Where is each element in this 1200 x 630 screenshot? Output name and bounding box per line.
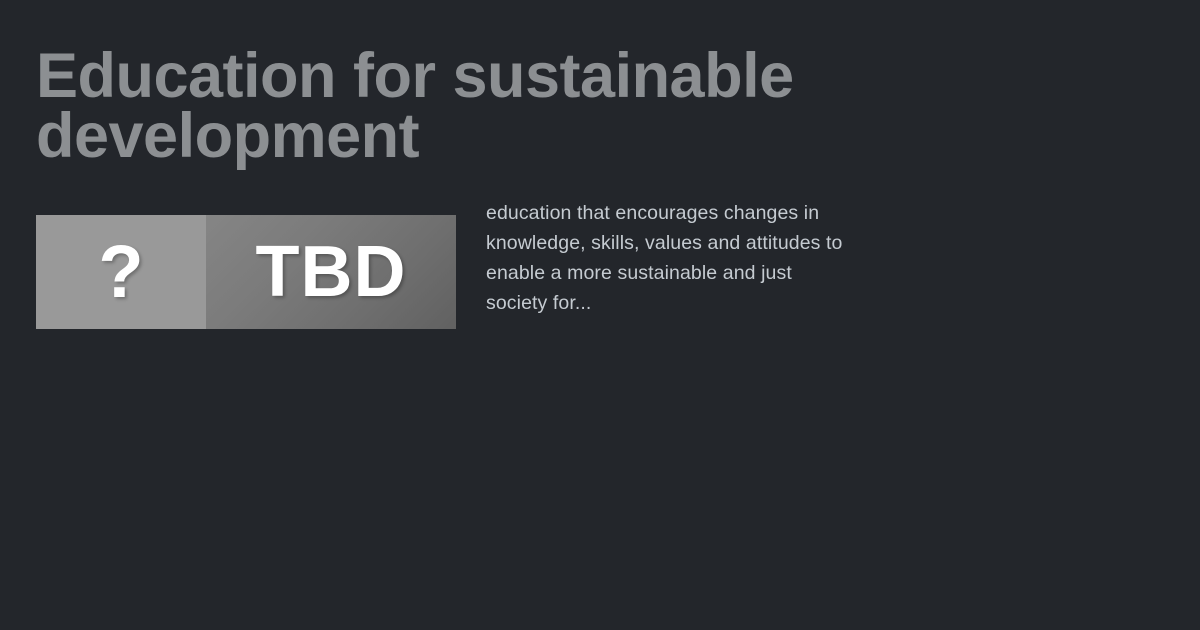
thumbnail-tbd-panel: TBD	[206, 215, 456, 329]
page-title: Education for sustainable development	[36, 46, 1036, 166]
thumbnail-question-panel: ?	[36, 215, 206, 329]
summary-text: education that encourages changes in kno…	[486, 198, 846, 318]
question-mark-icon: ?	[98, 235, 143, 309]
page-root: Education for sustainable development ? …	[0, 0, 1200, 630]
placeholder-image[interactable]: ? TBD	[36, 215, 456, 329]
content-row: ? TBD education that encourages changes …	[36, 215, 1166, 335]
thumbnail-tbd-label: TBD	[256, 236, 407, 308]
